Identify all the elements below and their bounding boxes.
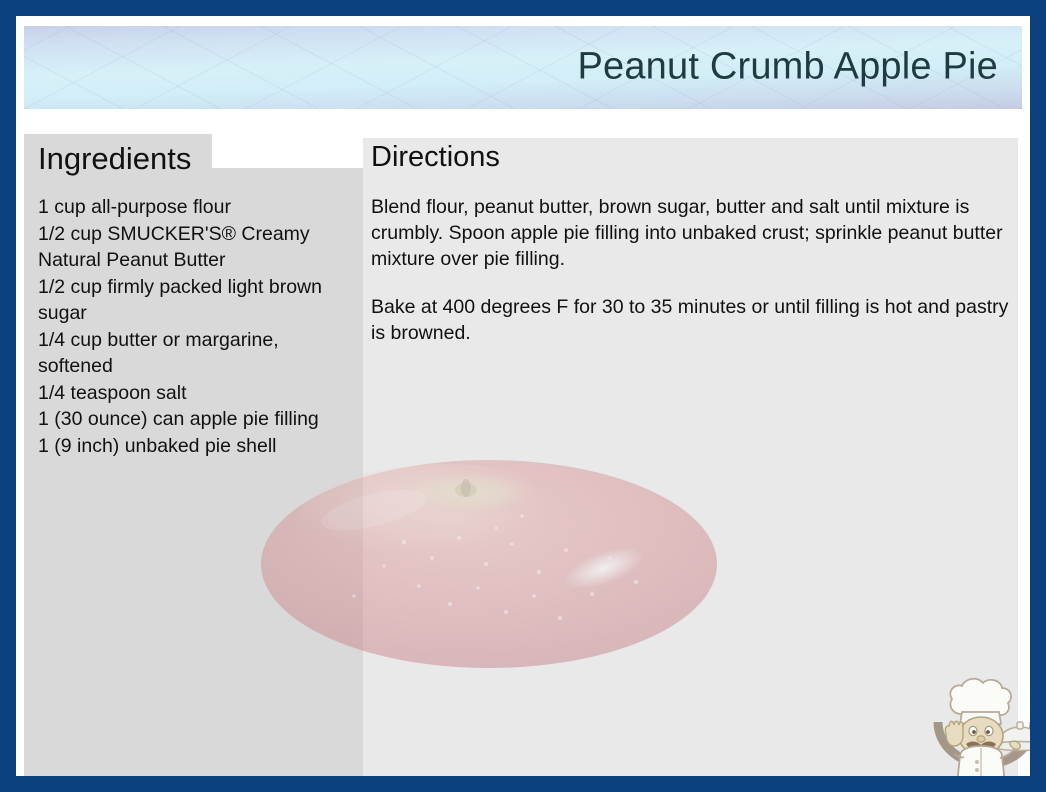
header-banner: Peanut Crumb Apple Pie bbox=[24, 26, 1022, 109]
chef-logo-icon bbox=[922, 662, 1030, 776]
directions-paragraph: Blend flour, peanut butter, brown sugar,… bbox=[371, 194, 1013, 272]
list-item: 1/4 teaspoon salt bbox=[38, 380, 356, 407]
directions-heading: Directions bbox=[371, 140, 500, 174]
page-title: Peanut Crumb Apple Pie bbox=[577, 45, 998, 88]
list-item: 1/4 cup butter or margarine, bbox=[38, 327, 356, 354]
list-item: 1/2 cup firmly packed light brown bbox=[38, 274, 356, 301]
list-item: 1 (9 inch) unbaked pie shell bbox=[38, 433, 356, 460]
ingredients-list: 1 cup all-purpose flour 1/2 cup SMUCKER'… bbox=[38, 194, 356, 459]
directions-body: Blend flour, peanut butter, brown sugar,… bbox=[371, 194, 1013, 346]
list-item: Natural Peanut Butter bbox=[38, 247, 356, 274]
ingredients-heading: Ingredients bbox=[38, 142, 191, 176]
list-item: sugar bbox=[38, 300, 356, 327]
slide-frame: Peanut Crumb Apple Pie Ingredients 1 cup… bbox=[0, 0, 1046, 792]
list-item: 1 cup all-purpose flour bbox=[38, 194, 356, 221]
slide-canvas: Peanut Crumb Apple Pie Ingredients 1 cup… bbox=[16, 16, 1030, 776]
list-item: 1/2 cup SMUCKER'S® Creamy bbox=[38, 221, 356, 248]
list-item: softened bbox=[38, 353, 356, 380]
list-item: 1 (30 ounce) can apple pie filling bbox=[38, 406, 356, 433]
directions-paragraph: Bake at 400 degrees F for 30 to 35 minut… bbox=[371, 294, 1013, 346]
